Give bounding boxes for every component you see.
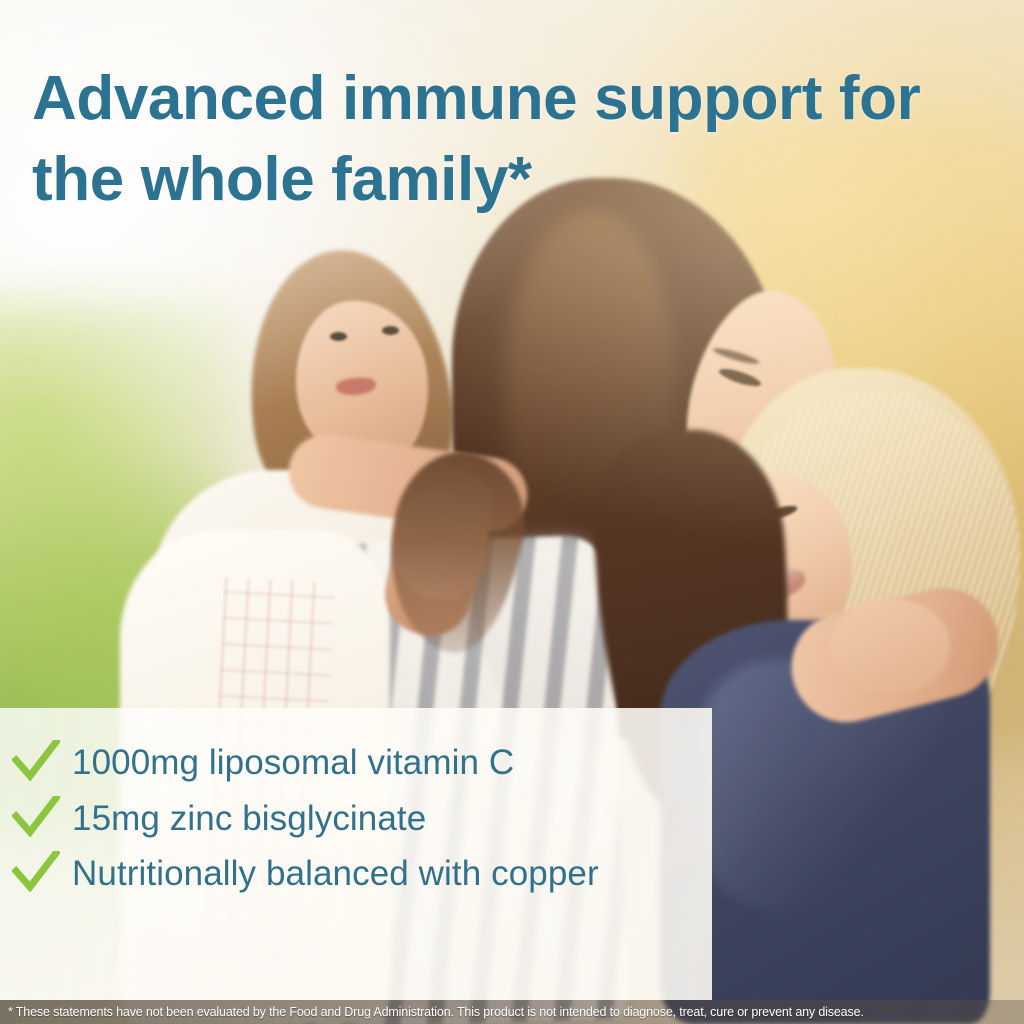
benefit-label: 15mg zinc bisglycinate	[72, 794, 712, 844]
disclaimer-text: * These statements have not been evaluat…	[0, 1005, 864, 1019]
girl-eye-left	[330, 332, 347, 341]
check-mark-icon	[0, 849, 72, 895]
mother-hand	[830, 598, 950, 694]
check-mark-icon	[0, 794, 72, 840]
benefit-label: Nutritionally balanced with copper	[72, 849, 712, 899]
benefits-list: 1000mg liposomal vitamin C 15mg zinc bis…	[0, 708, 712, 905]
list-item: Nutritionally balanced with copper	[0, 849, 712, 899]
list-item: 1000mg liposomal vitamin C	[0, 738, 712, 788]
page-title: Advanced immune support for the whole fa…	[32, 58, 1012, 222]
check-mark-icon	[0, 738, 72, 784]
product-lifestyle-banner: Advanced immune support for the whole fa…	[0, 0, 1024, 1024]
list-item: 15mg zinc bisglycinate	[0, 794, 712, 844]
girl-eye-right	[382, 326, 399, 335]
benefit-label: 1000mg liposomal vitamin C	[72, 738, 712, 788]
headline-line-2: the whole family*	[32, 139, 1012, 221]
headline-line-1: Advanced immune support for	[32, 58, 1012, 140]
disclaimer-band: * These statements have not been evaluat…	[0, 1000, 1024, 1024]
